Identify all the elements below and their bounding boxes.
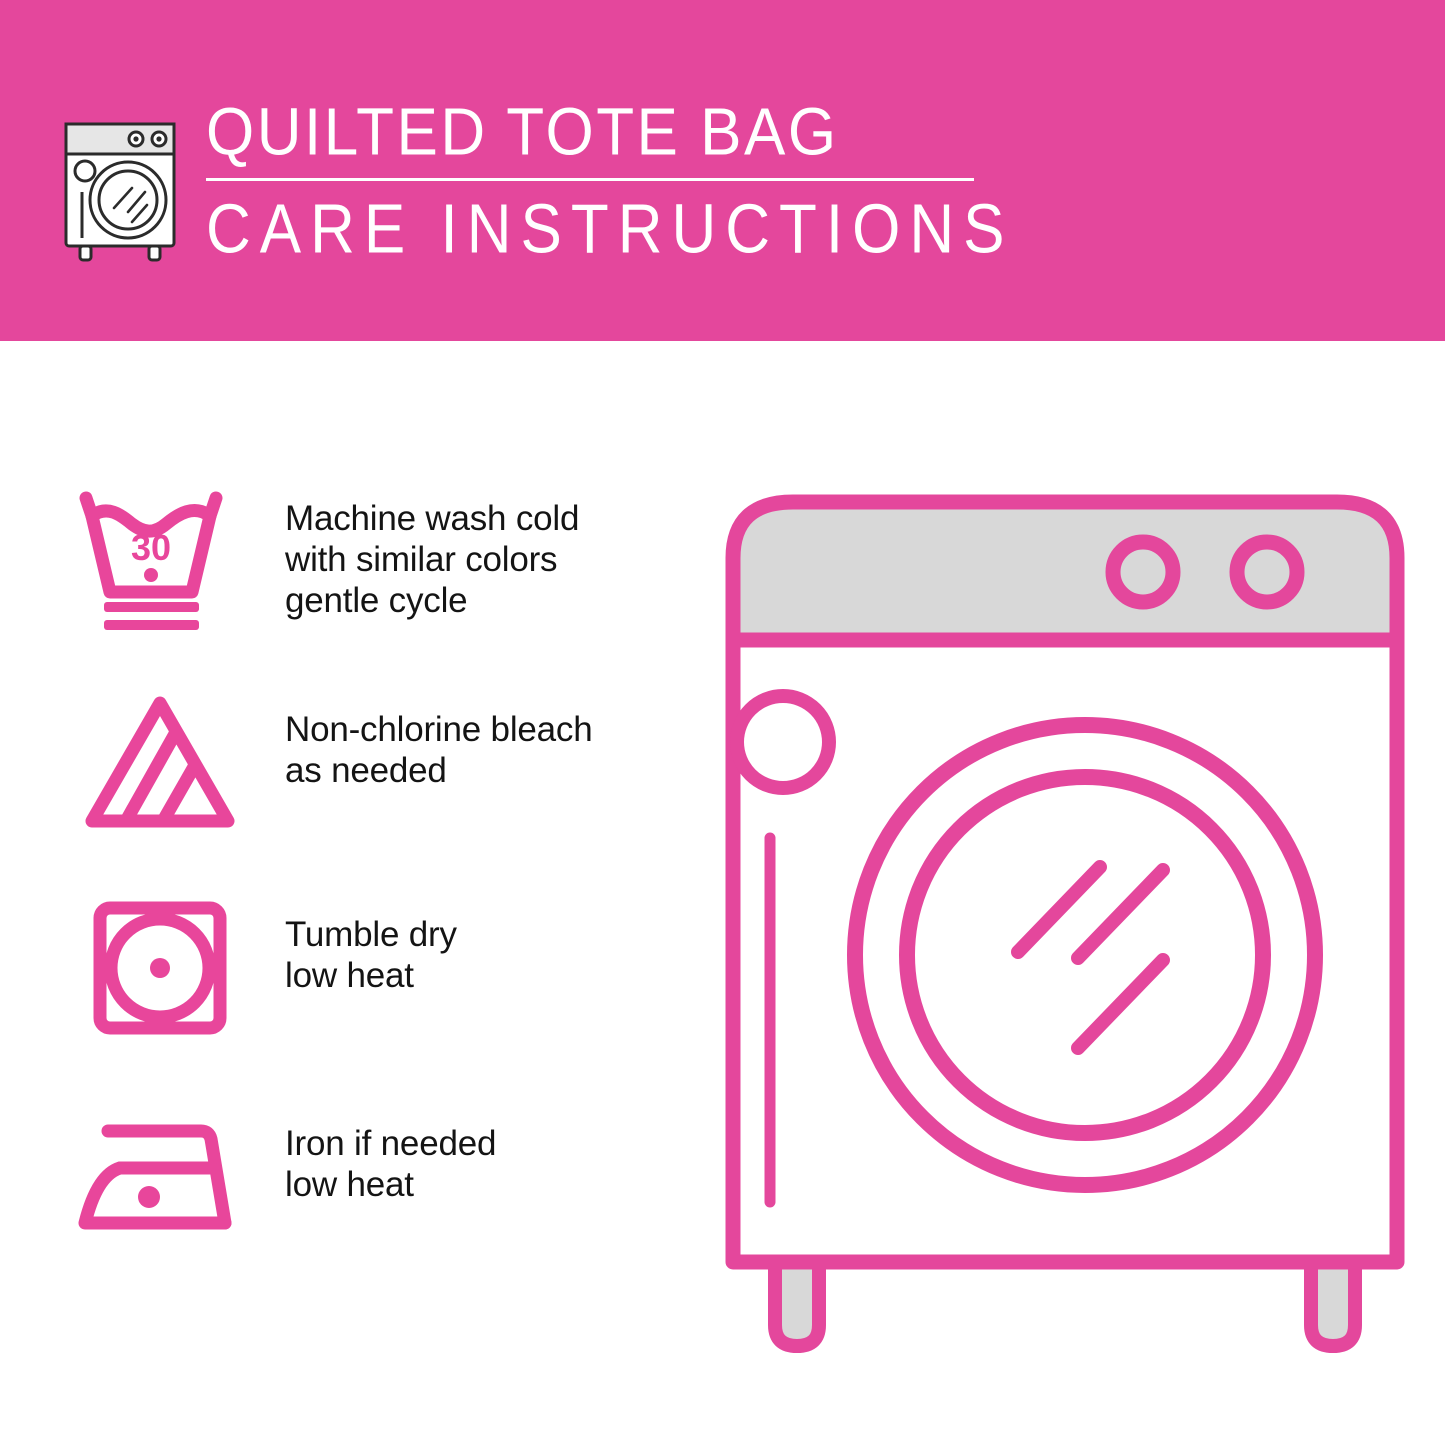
instruction-line: Machine wash cold <box>285 498 700 539</box>
instruction-line: Tumble dry <box>285 914 700 955</box>
large-washing-machine-illustration <box>715 480 1415 1370</box>
instruction-line: as needed <box>285 750 700 791</box>
iron-low-heat-icon <box>75 1115 245 1245</box>
instruction-list: 30 Machine wash cold with similar colors… <box>60 480 700 1300</box>
instruction-line: Iron if needed <box>285 1123 700 1164</box>
instruction-row: Tumble dry low heat <box>60 890 700 1095</box>
page-title: QUILTED TOTE BAG <box>206 96 1013 169</box>
symbol-cell <box>60 685 260 834</box>
symbol-cell: 30 <box>60 480 260 638</box>
instruction-text: Tumble dry low heat <box>260 890 700 996</box>
instruction-row: 30 Machine wash cold with similar colors… <box>60 480 700 685</box>
instruction-row: Iron if needed low heat <box>60 1095 700 1300</box>
instruction-line: low heat <box>285 955 700 996</box>
wash-tub-30-gentle-icon: 30 <box>74 488 246 638</box>
header-content: QUILTED TOTE BAG CARE INSTRUCTIONS <box>56 96 1013 262</box>
instruction-row: Non-chlorine bleach as needed <box>60 685 700 890</box>
page-subtitle: CARE INSTRUCTIONS <box>206 191 1013 269</box>
instruction-line: with similar colors <box>285 539 700 580</box>
title-divider <box>206 178 974 181</box>
svg-text:30: 30 <box>131 527 171 568</box>
instruction-text: Iron if needed low heat <box>260 1095 700 1205</box>
instruction-text: Non-chlorine bleach as needed <box>260 685 700 791</box>
symbol-cell <box>60 890 260 1038</box>
tumble-dry-low-heat-icon <box>90 898 230 1038</box>
washing-machine-icon <box>56 102 184 262</box>
instruction-line: low heat <box>285 1164 700 1205</box>
header-banner: QUILTED TOTE BAG CARE INSTRUCTIONS <box>0 0 1445 341</box>
header-titles: QUILTED TOTE BAG CARE INSTRUCTIONS <box>206 96 1013 261</box>
symbol-cell <box>60 1095 260 1245</box>
care-instructions-page: QUILTED TOTE BAG CARE INSTRUCTIONS 30 <box>0 0 1445 1445</box>
non-chlorine-bleach-triangle-icon <box>78 689 243 834</box>
instruction-text: Machine wash cold with similar colors ge… <box>260 480 700 621</box>
instruction-line: gentle cycle <box>285 580 700 621</box>
instruction-line: Non-chlorine bleach <box>285 709 700 750</box>
